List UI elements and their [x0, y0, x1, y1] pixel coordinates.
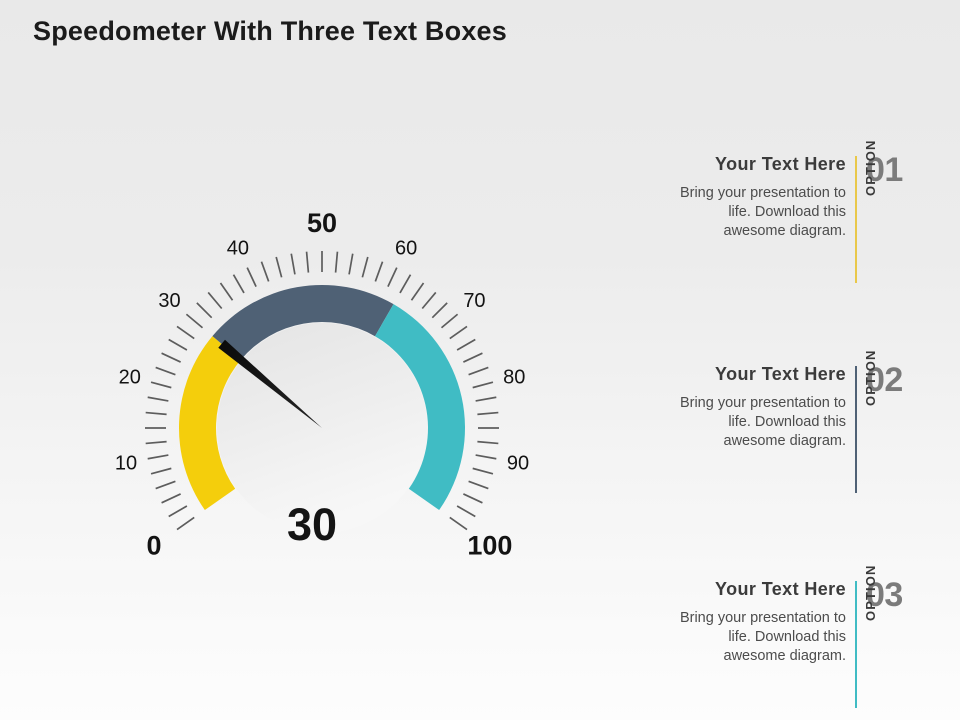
option-word: OPTION: [863, 565, 878, 621]
gauge-tick-label-60: 60: [395, 238, 417, 260]
options-column: Your Text Here Bring your presentation t…: [612, 138, 948, 698]
option-block-02[interactable]: Your Text Here Bring your presentation t…: [612, 364, 948, 499]
gauge-tick-label-90: 90: [507, 453, 529, 475]
option-heading: Your Text Here: [612, 154, 846, 175]
option-heading: Your Text Here: [612, 364, 846, 385]
gauge-tick-label-40: 40: [227, 238, 249, 260]
gauge-tick-label-80: 80: [503, 366, 525, 388]
option-heading: Your Text Here: [612, 579, 846, 600]
option-body-line: awesome diagram.: [612, 222, 846, 241]
gauge-center-value: 30: [287, 499, 337, 550]
gauge-tick-label-100: 100: [467, 531, 512, 561]
option-marker-01: 01 OPTION: [857, 154, 939, 289]
option-marker-03: 03 OPTION: [857, 579, 939, 714]
gauge-value-label: 30: [287, 499, 337, 550]
option-body-line: Bring your presentation to: [612, 184, 846, 203]
option-body-line: life. Download this: [612, 203, 846, 222]
option-text-01: Your Text Here Bring your presentation t…: [612, 154, 855, 289]
option-word: OPTION: [863, 350, 878, 406]
gauge-tick-label-10: 10: [115, 453, 137, 475]
option-body: Bring your presentation to life. Downloa…: [612, 184, 846, 241]
option-marker-02: 02 OPTION: [857, 364, 939, 499]
option-body-line: awesome diagram.: [612, 432, 846, 451]
option-body-line: awesome diagram.: [612, 647, 846, 666]
slide-canvas: Speedometer With Three Text Boxes 010203…: [0, 0, 960, 720]
gauge-tick-label-0: 0: [147, 531, 162, 561]
speedometer-gauge: 0102030405060708090100 30: [20, 120, 630, 680]
gauge-tick-label-50: 50: [307, 208, 337, 238]
option-body-line: Bring your presentation to: [612, 394, 846, 413]
page-title: Speedometer With Three Text Boxes: [33, 16, 507, 47]
option-body-line: Bring your presentation to: [612, 609, 846, 628]
option-block-03[interactable]: Your Text Here Bring your presentation t…: [612, 579, 948, 714]
option-body-line: life. Download this: [612, 628, 846, 647]
gauge-tick-label-20: 20: [119, 366, 141, 388]
gauge-tick-label-30: 30: [158, 290, 180, 312]
gauge-svg: 0102030405060708090100 30: [20, 120, 630, 680]
option-body-line: life. Download this: [612, 413, 846, 432]
option-body: Bring your presentation to life. Downloa…: [612, 609, 846, 666]
option-text-03: Your Text Here Bring your presentation t…: [612, 579, 855, 714]
option-word: OPTION: [863, 140, 878, 196]
option-body: Bring your presentation to life. Downloa…: [612, 394, 846, 451]
option-block-01[interactable]: Your Text Here Bring your presentation t…: [612, 154, 948, 289]
option-text-02: Your Text Here Bring your presentation t…: [612, 364, 855, 499]
gauge-tick-label-70: 70: [463, 290, 485, 312]
